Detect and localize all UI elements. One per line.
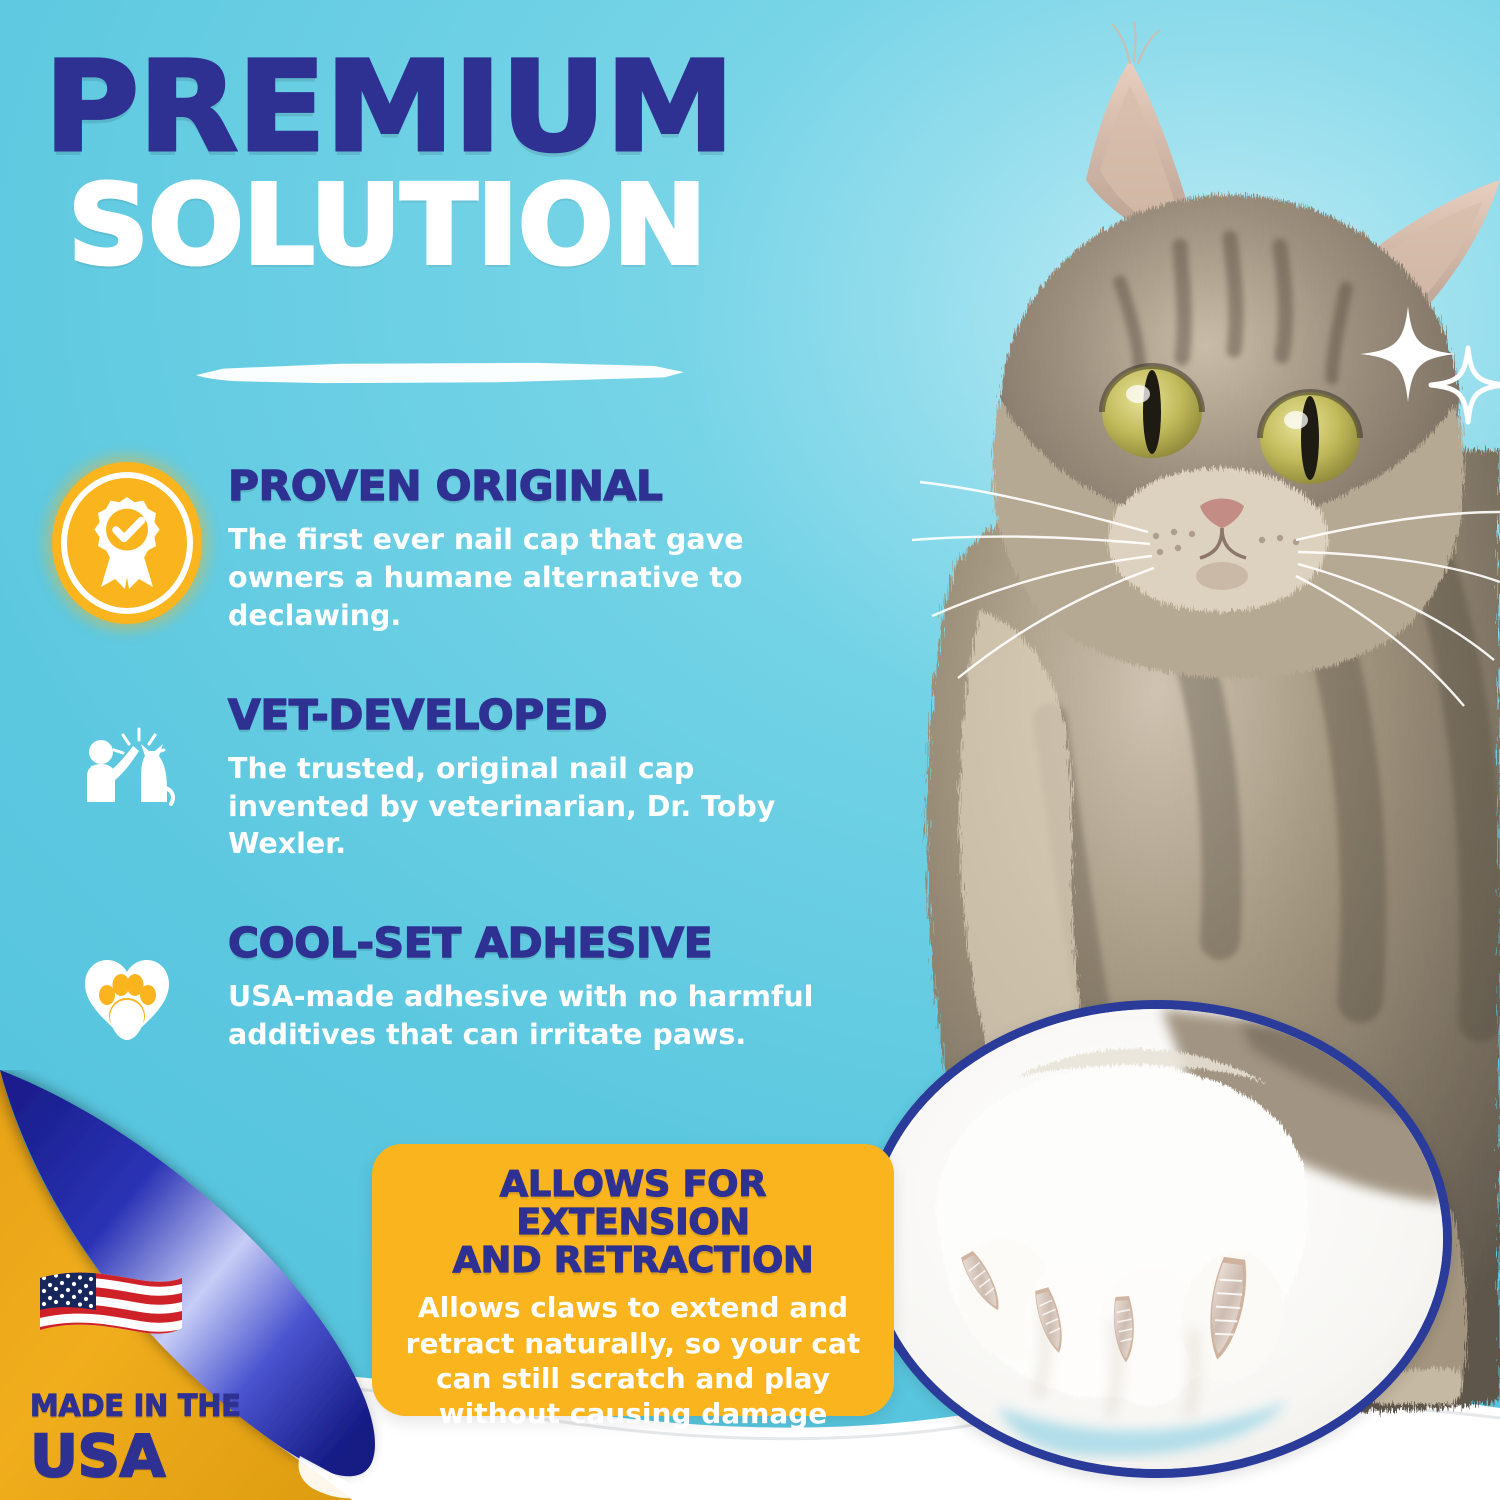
feature-title: COOL-SET ADHESIVE <box>228 923 846 964</box>
feature-title: VET-DEVELOPED <box>228 695 846 736</box>
product-infographic: PREMIUM SOLUTION PROVEN ORIGINAL The fir… <box>0 0 1500 1500</box>
feature-body: The first ever nail cap that gave owners… <box>228 521 828 635</box>
headline-premium: PREMIUM <box>44 50 897 165</box>
white-cat-paw-with-nail-caps-photo <box>871 1009 1443 1472</box>
sparkle-group <box>1360 300 1500 450</box>
feature-body: USA-made adhesive with no harmful additi… <box>228 978 828 1054</box>
heart-paw-icon <box>52 919 202 1081</box>
callout-title-line1: ALLOWS FOR EXTENSION <box>391 1166 874 1242</box>
callout-title: ALLOWS FOR EXTENSION AND RETRACTION <box>391 1166 874 1280</box>
made-in-usa-line2: USA <box>30 1426 254 1487</box>
headline-solution: SOLUTION <box>68 173 880 278</box>
paw-closeup-inset <box>862 1000 1452 1478</box>
callout-title-line2: AND RETRACTION <box>391 1242 874 1280</box>
vet-highfive-cat-icon <box>52 691 202 853</box>
callout-extension-retraction: ALLOWS FOR EXTENSION AND RETRACTION Allo… <box>372 1144 894 1416</box>
feature-item-vet-developed: VET-DEVELOPED The trusted, original nail… <box>52 691 852 864</box>
award-ribbon-icon <box>52 462 202 624</box>
callout-body: Allows claws to extend and retract natur… <box>396 1290 870 1431</box>
usa-flag-icon <box>36 1264 186 1356</box>
sparkle-star-outline-icon <box>1431 348 1500 422</box>
headline-block: PREMIUM SOLUTION <box>44 50 864 278</box>
feature-body: The trusted, original nail cap invented … <box>228 750 828 864</box>
made-in-usa-line1: MADE IN THE <box>30 1392 241 1422</box>
made-in-usa-badge: MADE IN THE USA <box>30 1392 250 1487</box>
feature-item-proven-original: PROVEN ORIGINAL The first ever nail cap … <box>52 462 852 635</box>
feature-list: PROVEN ORIGINAL The first ever nail cap … <box>52 462 852 1081</box>
feature-item-cool-set-adhesive: COOL-SET ADHESIVE USA-made adhesive with… <box>52 919 852 1081</box>
feature-title: PROVEN ORIGINAL <box>228 466 846 507</box>
